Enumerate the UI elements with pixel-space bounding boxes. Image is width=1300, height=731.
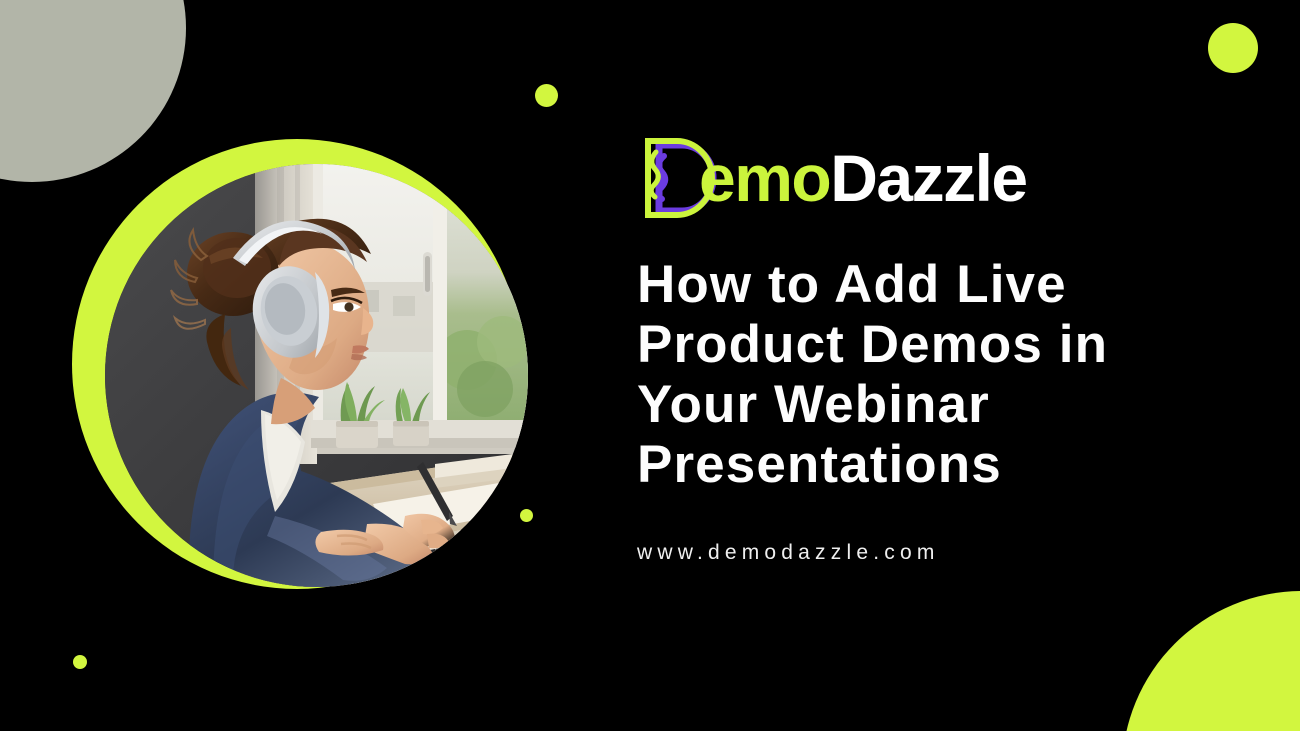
promo-banner: emoDazzle How to Add Live Product Demos … — [0, 0, 1300, 731]
lime-circle-bottom-right — [1122, 591, 1300, 731]
content-column: emoDazzle How to Add Live Product Demos … — [637, 132, 1197, 565]
page-title: How to Add Live Product Demos in Your We… — [637, 255, 1147, 495]
logo-wordmark-lime: emo — [699, 141, 830, 215]
logo-wordmark-white: Dazzle — [830, 141, 1026, 215]
lime-dot-upper-middle — [535, 84, 558, 107]
lime-circle-top-right — [1208, 23, 1258, 73]
photo-frame — [60, 138, 530, 593]
demodazzle-logo[interactable]: emoDazzle — [637, 132, 1197, 224]
lime-dot-bottom-left — [73, 655, 87, 669]
webinar-photo — [105, 164, 528, 587]
logo-wordmark: emoDazzle — [699, 138, 1027, 218]
website-url[interactable]: www.demodazzle.com — [637, 541, 1197, 565]
